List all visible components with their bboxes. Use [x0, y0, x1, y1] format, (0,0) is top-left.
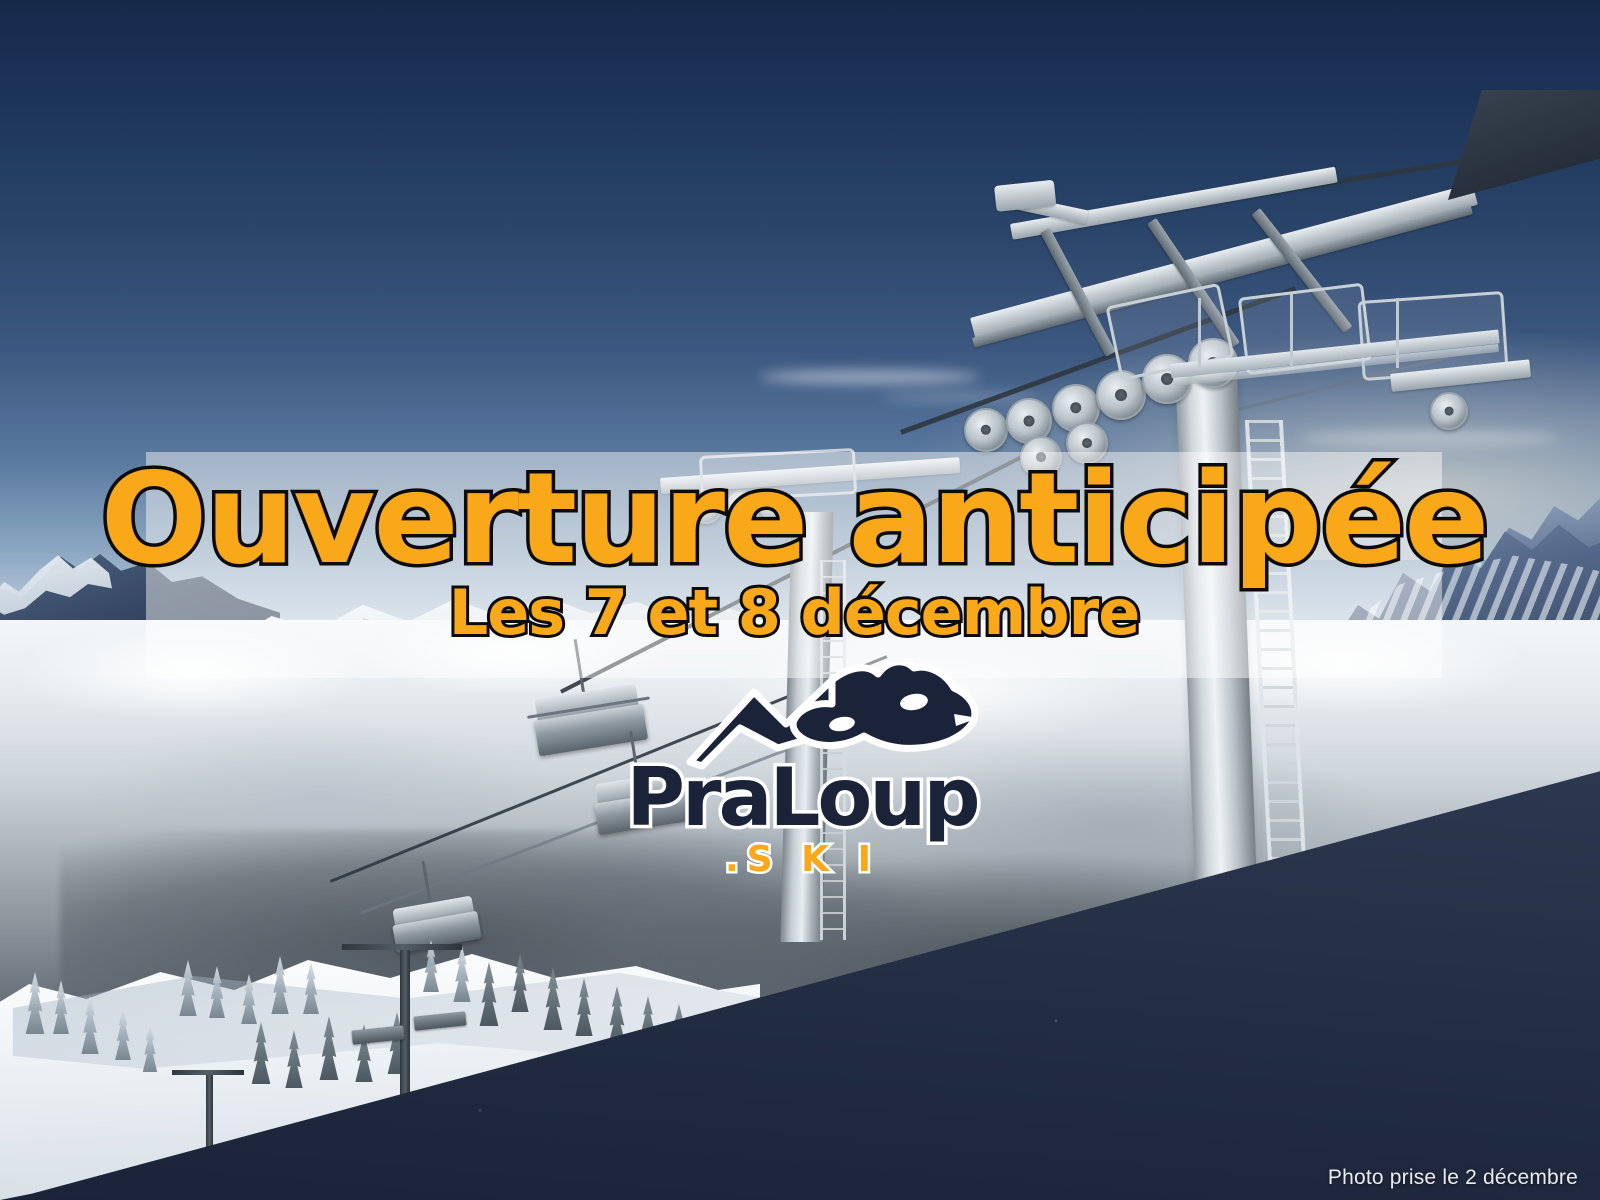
wisp-cloud [1300, 430, 1560, 446]
rail-post [1198, 298, 1201, 368]
sheave-wheel [964, 408, 1008, 452]
photo-caption: Photo prise le 2 décembre [1328, 1166, 1578, 1190]
rail-post [1396, 298, 1399, 368]
chairlift-tower-head [960, 178, 1520, 428]
wisp-cloud [760, 370, 980, 384]
rail-post [1290, 294, 1293, 366]
sheave-wheel [1430, 392, 1468, 430]
lower-chairlift-crossarm [342, 944, 462, 950]
lower-chairlift-crossarm-2 [172, 1070, 244, 1075]
tower-truss-upper [1010, 167, 1338, 240]
poster-canvas: Ouverture anticipée Les 7 et 8 décembre … [0, 0, 1600, 1200]
headline-banner [146, 452, 1442, 678]
